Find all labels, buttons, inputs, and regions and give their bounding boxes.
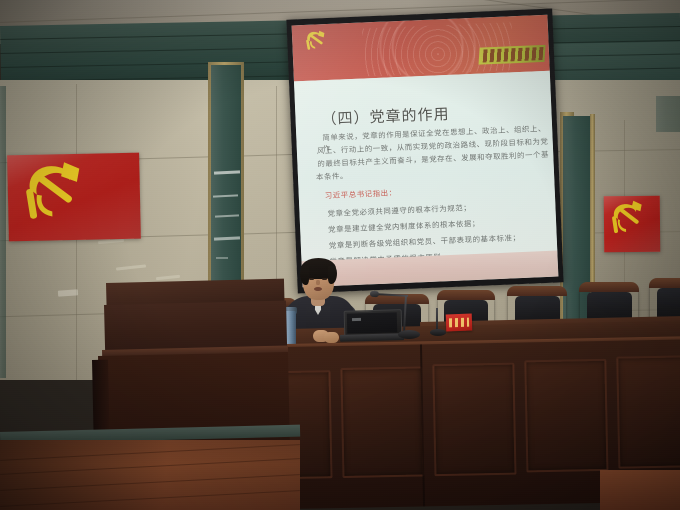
speaker-mouth bbox=[314, 287, 322, 291]
speaker-right-hand bbox=[324, 332, 339, 343]
wall-pilaster bbox=[0, 86, 6, 378]
laptop-logo bbox=[352, 318, 361, 321]
name-card-text bbox=[449, 318, 469, 328]
floor-shading bbox=[0, 440, 300, 510]
hammer-and-sickle-icon bbox=[7, 153, 141, 242]
table-panel bbox=[524, 359, 608, 473]
wall-pilaster bbox=[656, 96, 680, 132]
conference-hall-photo: （四）党章的作用 简单来说，党章的作用是保证全党在思想上、政治上、组织上、作 风… bbox=[0, 0, 680, 510]
cpc-flag-right bbox=[604, 196, 660, 252]
projection-screen: （四）党章的作用 简单来说，党章的作用是保证全党在思想上、政治上、组织上、作 风… bbox=[286, 9, 563, 294]
chair-crest bbox=[437, 290, 495, 300]
table-panel bbox=[340, 366, 424, 478]
microphone-capsule bbox=[370, 291, 379, 297]
wall-seam bbox=[276, 86, 277, 306]
speaker-hair-side bbox=[300, 266, 309, 285]
screen-glare bbox=[292, 15, 559, 287]
table-panel bbox=[616, 355, 680, 468]
laptop-display bbox=[347, 312, 398, 333]
wood-floor-right bbox=[600, 470, 680, 510]
chair-crest bbox=[579, 282, 639, 292]
hammer-and-sickle-icon bbox=[604, 196, 660, 252]
wall-pilaster bbox=[211, 65, 241, 293]
chair-crest bbox=[649, 278, 680, 288]
table-panel bbox=[432, 363, 516, 477]
cpc-flag-left bbox=[7, 153, 141, 242]
microphone-base bbox=[430, 329, 446, 336]
table-seam bbox=[420, 344, 425, 506]
microphone-base bbox=[398, 330, 420, 339]
speaker-nose bbox=[316, 280, 320, 285]
chair-crest bbox=[507, 286, 567, 296]
